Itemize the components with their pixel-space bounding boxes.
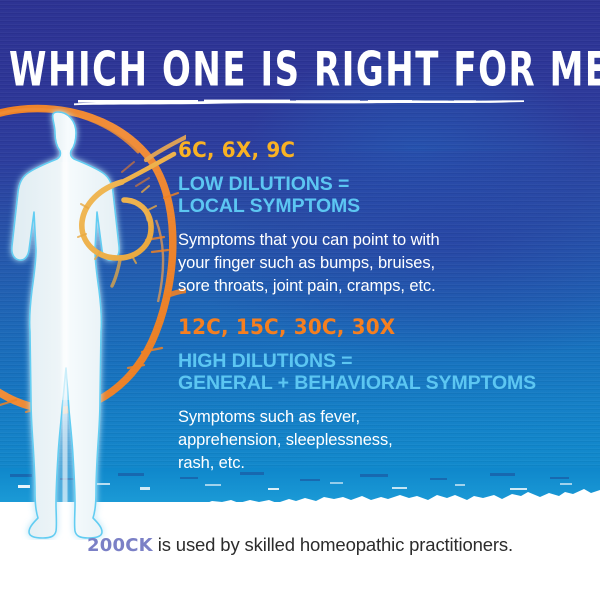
body-low-line2: your finger such as bumps, bruises, <box>178 252 435 275</box>
body-high-line3: rash, etc. <box>178 452 245 475</box>
footer-caption-text: is used by skilled homeopathic practitio… <box>153 534 513 555</box>
subhead-low-line2: LOCAL SYMPTOMS <box>178 195 360 217</box>
subhead-high-line2: GENERAL + BEHAVIORAL SYMPTOMS <box>178 372 536 394</box>
dose-heading-high: 12C, 15C, 30C, 30X <box>178 317 395 338</box>
body-high-line1: Symptoms such as fever, <box>178 406 360 429</box>
page-title: WHICH ONE IS RIGHT FOR ME? <box>9 48 591 95</box>
potency-label: 200CK <box>87 535 153 556</box>
body-low-line3: sore throats, joint pain, cramps, etc. <box>178 275 436 298</box>
subhead-low-line1: LOW DILUTIONS = <box>178 173 349 195</box>
infographic-poster: WHICH ONE IS RIGHT FOR ME? <box>0 0 600 600</box>
body-high-line2: apprehension, sleeplessness, <box>178 429 393 452</box>
body-low-line1: Symptoms that you can point to with <box>178 229 440 252</box>
dose-heading-low: 6C, 6X, 9C <box>178 140 295 161</box>
body-silhouette <box>12 112 119 538</box>
footer-caption: 200CK is used by skilled homeopathic pra… <box>0 534 600 556</box>
human-figure-with-rings-illustration <box>0 100 186 540</box>
subhead-high-line1: HIGH DILUTIONS = <box>178 350 352 372</box>
